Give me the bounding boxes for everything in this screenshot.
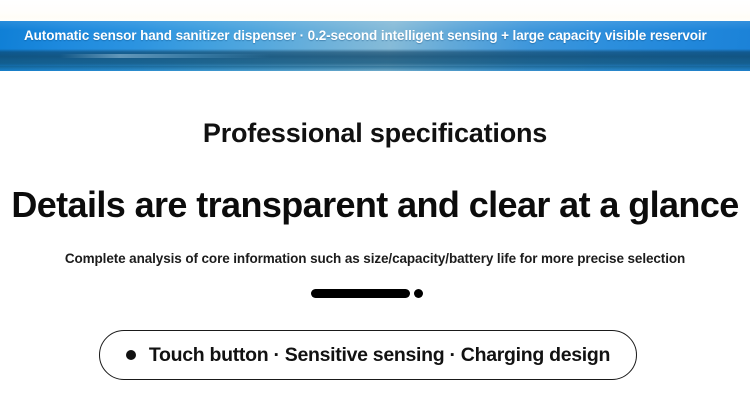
main-content: Professional specifications Details are … [0,71,750,408]
section-headline: Details are transparent and clear at a g… [0,184,750,226]
section-subline: Complete analysis of core information su… [0,251,750,266]
feature-pill-inner: Touch button · Sensitive sensing · Charg… [126,344,610,367]
divider-bar [311,289,410,298]
divider-dot-icon [414,289,423,298]
product-banner: Automatic sensor hand sanitizer dispense… [0,21,750,71]
feature-pill-label: Touch button · Sensitive sensing · Charg… [149,344,610,367]
product-detail-page: Automatic sensor hand sanitizer dispense… [0,0,750,408]
divider [311,289,423,298]
banner-light-streak [0,54,750,58]
bullet-dot-icon [126,350,136,360]
section-eyebrow: Professional specifications [0,118,750,149]
banner-title: Automatic sensor hand sanitizer dispense… [24,25,740,46]
feature-pill[interactable]: Touch button · Sensitive sensing · Charg… [99,330,637,380]
banner-dark-streak [0,49,750,66]
